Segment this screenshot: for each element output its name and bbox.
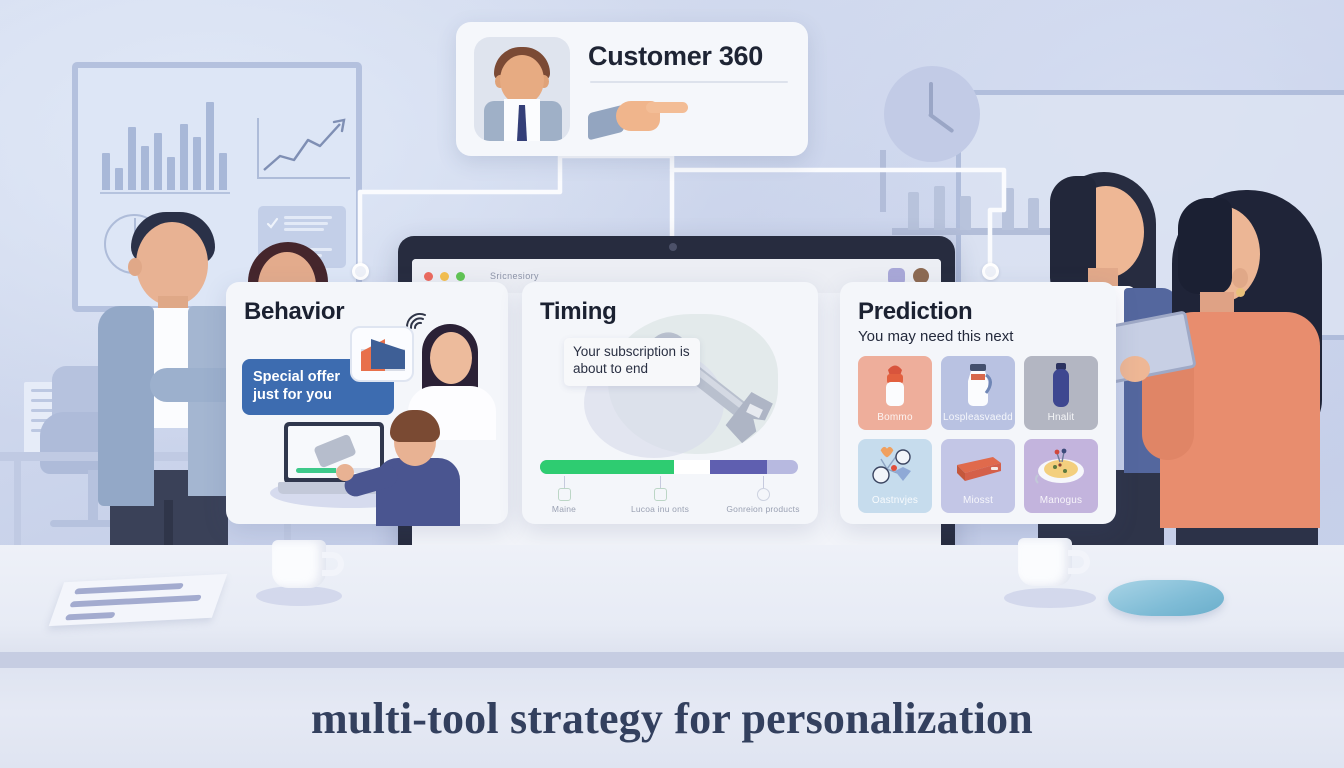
product-tile[interactable]: Manogus: [1024, 439, 1098, 513]
red-box-icon: [941, 443, 1015, 491]
circle-icon: [757, 488, 770, 501]
progress-marker-label: Maine: [521, 504, 607, 514]
product-tile[interactable]: Oastnvjes: [858, 439, 932, 513]
product-tile-label: Hnalit: [1024, 412, 1098, 423]
computer-mouse[interactable]: [1108, 580, 1224, 616]
panel-behavior[interactable]: Behavior Special offer just for you: [226, 282, 508, 524]
shelf-bottle: [934, 186, 945, 230]
product-tile-label: Oastnvjes: [858, 495, 932, 506]
mug-shadow: [1004, 588, 1096, 608]
man-illustration-hand: [336, 464, 354, 481]
product-tile[interactable]: Lospleasvaedd: [941, 356, 1015, 430]
laptop-camera: [669, 243, 677, 251]
customer-360-card[interactable]: Customer 360: [456, 22, 808, 156]
browser-tab-label[interactable]: Sricnesiory: [490, 271, 539, 281]
product-tile-label: Miosst: [941, 495, 1015, 506]
traffic-light-minimize[interactable]: [440, 272, 449, 281]
product-tile-grid: BommoLospleasvaeddHnalitOastnvjesMiosstM…: [858, 356, 1098, 513]
product-tile[interactable]: Hnalit: [1024, 356, 1098, 430]
whiteboard-line-chart: [256, 112, 352, 186]
connector-node-prediction: [982, 263, 999, 280]
progress-segment-gap: [674, 460, 710, 474]
progress-marker-label: Lucoa inu onts: [617, 504, 703, 514]
progress-segment-green: [540, 460, 674, 474]
avatar: [474, 37, 570, 141]
panel-prediction-title: Prediction: [858, 298, 1098, 326]
divider: [590, 81, 788, 83]
product-tile[interactable]: Miosst: [941, 439, 1015, 513]
traffic-light-close[interactable]: [424, 272, 433, 281]
panel-behavior-title: Behavior: [244, 298, 490, 326]
carafe-icon: [941, 360, 1015, 408]
progress-marker-label: Gonreion products: [720, 504, 806, 514]
clock-stand: [880, 150, 886, 212]
shelf-bottle: [1002, 188, 1014, 230]
whiteboard-bar-chart: [102, 98, 227, 190]
panel-prediction[interactable]: Prediction You may need this next BommoL…: [840, 282, 1116, 524]
panel-prediction-subtitle: You may need this next: [858, 328, 1098, 345]
progress-segment-purple: [710, 460, 767, 474]
woman-illustration-head: [430, 332, 472, 384]
progress-marker[interactable]: Lucoa inu onts: [617, 476, 703, 514]
shelf-bottle: [908, 192, 919, 230]
progress-marker[interactable]: Maine: [521, 476, 607, 514]
lock-icon: [558, 488, 571, 501]
subscription-tooltip: Your subscription is about to end: [564, 338, 700, 386]
bubble-line-2: just for you: [253, 386, 383, 404]
product-tile-label: Lospleasvaedd: [941, 412, 1015, 423]
progress-marker[interactable]: Gonreion products: [720, 476, 806, 514]
toy-balls-icon: [858, 443, 932, 491]
customer-360-title: Customer 360: [588, 41, 790, 72]
panel-timing[interactable]: Timing Your subscription is about to end: [522, 282, 818, 524]
cart-icon: [654, 488, 667, 501]
product-tile[interactable]: Bommo: [858, 356, 932, 430]
pointing-hand-icon: [588, 93, 688, 137]
desk-leg: [14, 461, 21, 553]
progress-bar[interactable]: [540, 460, 798, 474]
progress-markers: Maine Lucoa inu onts Gonreion products: [540, 476, 798, 518]
connector-node-behavior: [352, 263, 369, 280]
product-tile-label: Manogus: [1024, 495, 1098, 506]
office-chair-post: [88, 470, 98, 524]
traffic-light-maximize[interactable]: [456, 272, 465, 281]
email-icon: [350, 326, 414, 382]
mug-shadow: [256, 586, 342, 606]
tooltip-line-2: about to end: [573, 361, 691, 378]
coffee-mug: [1018, 538, 1072, 586]
illustration-scene: Customer 360 Sricnesiory: [0, 0, 1344, 768]
coffee-mug: [272, 540, 326, 588]
product-tile-label: Bommo: [858, 412, 932, 423]
wall-clock-icon: [884, 66, 980, 162]
shelf-bottle: [1028, 198, 1039, 230]
food-plate-icon: [1024, 443, 1098, 491]
page-caption: multi-tool strategy for personalization: [0, 668, 1344, 768]
thermos-bottle-icon: [858, 360, 932, 408]
paper-document: [49, 574, 228, 626]
tooltip-line-1: Your subscription is: [573, 344, 691, 361]
water-bottle-icon: [1024, 360, 1098, 408]
shelf-bottle: [960, 196, 971, 230]
